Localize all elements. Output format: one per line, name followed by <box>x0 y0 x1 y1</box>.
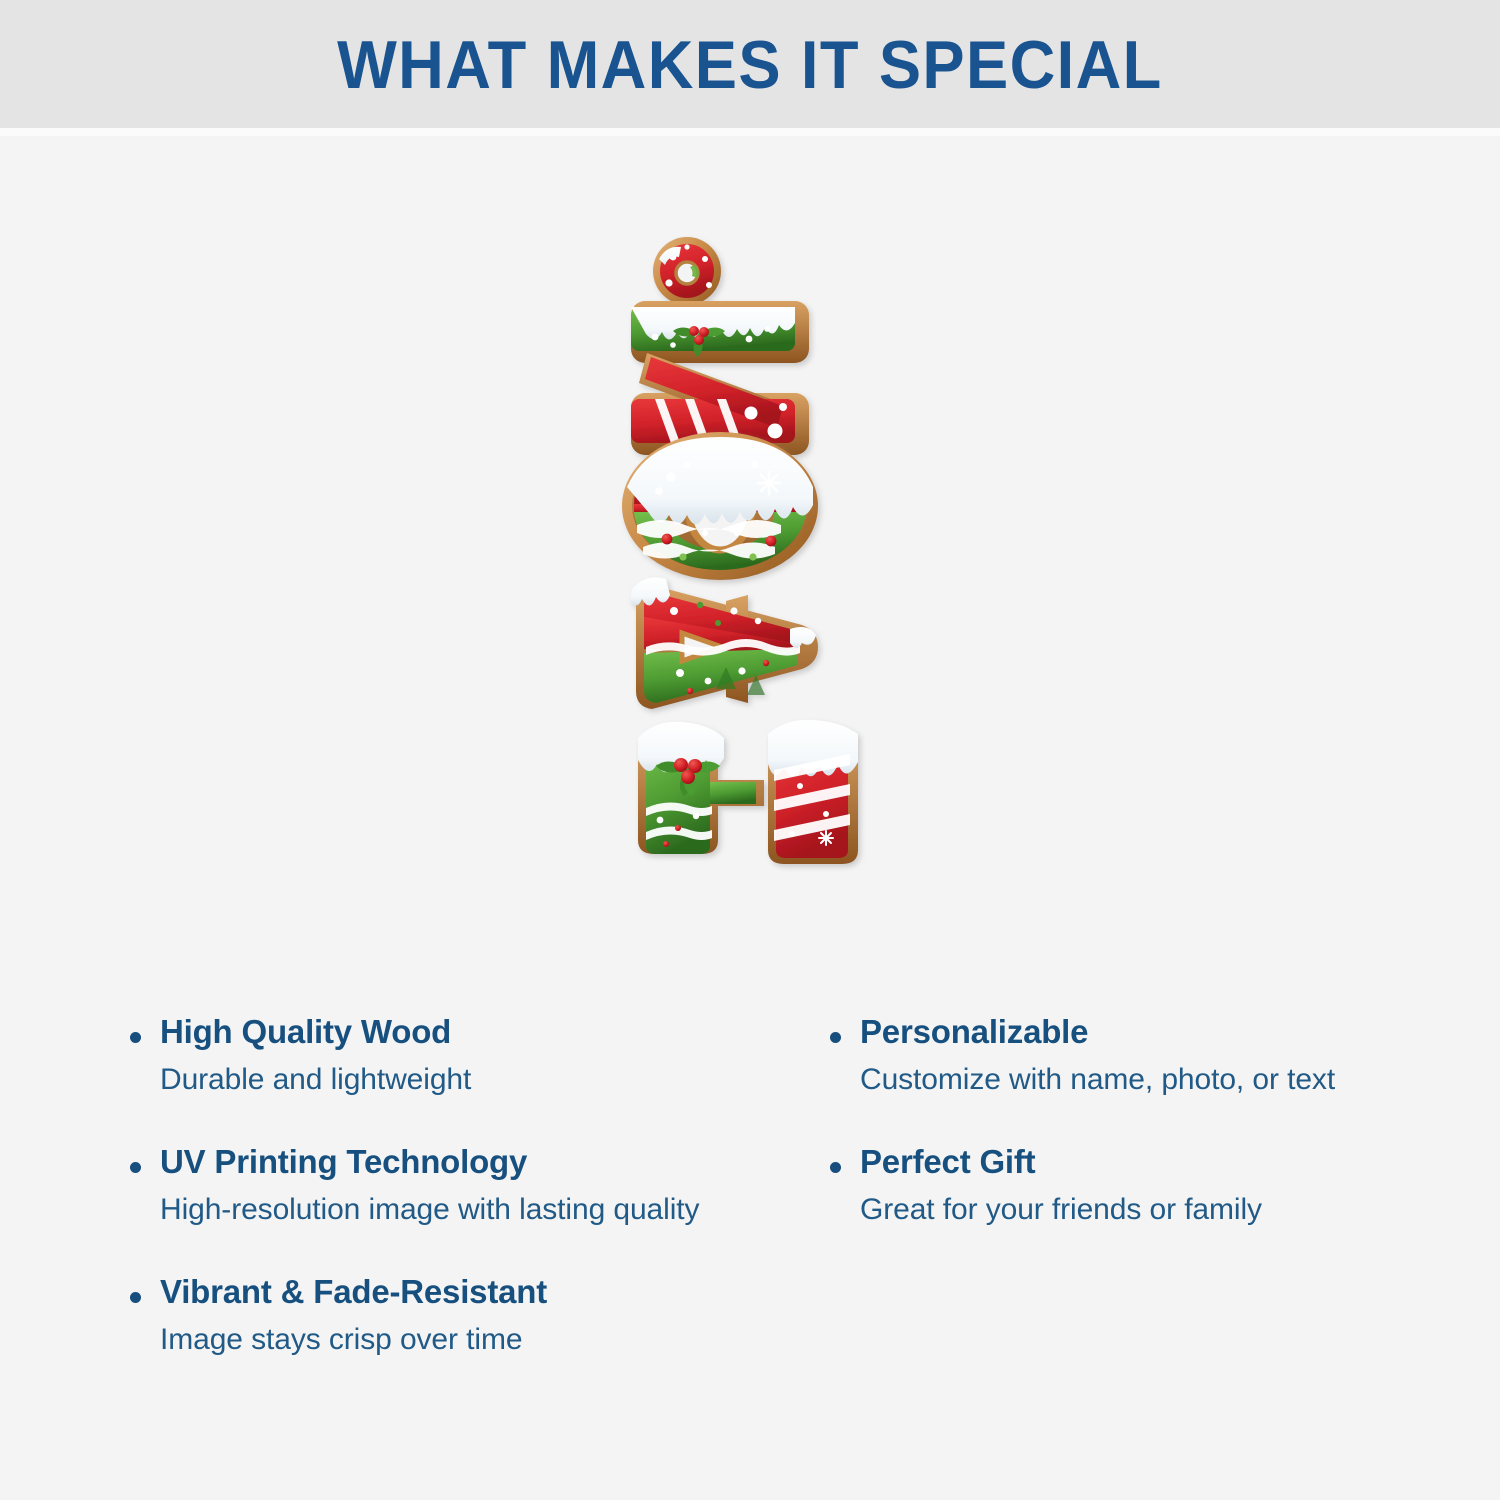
feature-title: Perfect Gift <box>860 1142 1035 1182</box>
header-divider <box>0 128 1500 136</box>
feature-heading-row: High Quality Wood <box>130 1012 700 1052</box>
product-image-stage <box>0 136 1500 996</box>
feature-heading-row: UV Printing Technology <box>130 1142 700 1182</box>
ornament-letter-o <box>622 432 818 580</box>
bullet-icon <box>130 1032 141 1043</box>
feature-title: Vibrant & Fade-Resistant <box>160 1272 547 1312</box>
bullet-icon <box>830 1032 841 1043</box>
ornament-image <box>590 216 910 916</box>
feature-subtitle: High-resolution image with lasting quali… <box>160 1191 700 1229</box>
header-band: WHAT MAKES IT SPECIAL <box>0 0 1500 128</box>
feature-title: Personalizable <box>860 1012 1088 1052</box>
feature-heading-row: Vibrant & Fade-Resistant <box>130 1272 700 1312</box>
bullet-icon <box>130 1162 141 1173</box>
feature-item-uv-printing-technology: UV Printing Technology High-resolution i… <box>130 1142 700 1228</box>
ornament-letter-n <box>631 237 809 455</box>
ornament-letter-a <box>630 577 818 709</box>
feature-title: High Quality Wood <box>160 1012 451 1052</box>
ornament-letter-h <box>638 720 858 864</box>
features-right-column: Personalizable Customize with name, phot… <box>700 1012 1500 1432</box>
feature-subtitle: Customize with name, photo, or text <box>860 1061 1500 1099</box>
feature-heading-row: Perfect Gift <box>830 1142 1500 1182</box>
feature-item-personalizable: Personalizable Customize with name, phot… <box>830 1012 1500 1098</box>
page-title: WHAT MAKES IT SPECIAL <box>337 31 1163 99</box>
feature-heading-row: Personalizable <box>830 1012 1500 1052</box>
feature-item-vibrant-fade-resistant: Vibrant & Fade-Resistant Image stays cri… <box>130 1272 700 1358</box>
feature-title: UV Printing Technology <box>160 1142 527 1182</box>
feature-item-high-quality-wood: High Quality Wood Durable and lightweigh… <box>130 1012 700 1098</box>
feature-item-perfect-gift: Perfect Gift Great for your friends or f… <box>830 1142 1500 1228</box>
bullet-icon <box>830 1162 841 1173</box>
feature-subtitle: Image stays crisp over time <box>160 1321 700 1359</box>
feature-subtitle: Great for your friends or family <box>860 1191 1500 1229</box>
feature-subtitle: Durable and lightweight <box>160 1061 700 1099</box>
bullet-icon <box>130 1292 141 1303</box>
features-section: High Quality Wood Durable and lightweigh… <box>0 1012 1500 1432</box>
features-left-column: High Quality Wood Durable and lightweigh… <box>0 1012 700 1432</box>
